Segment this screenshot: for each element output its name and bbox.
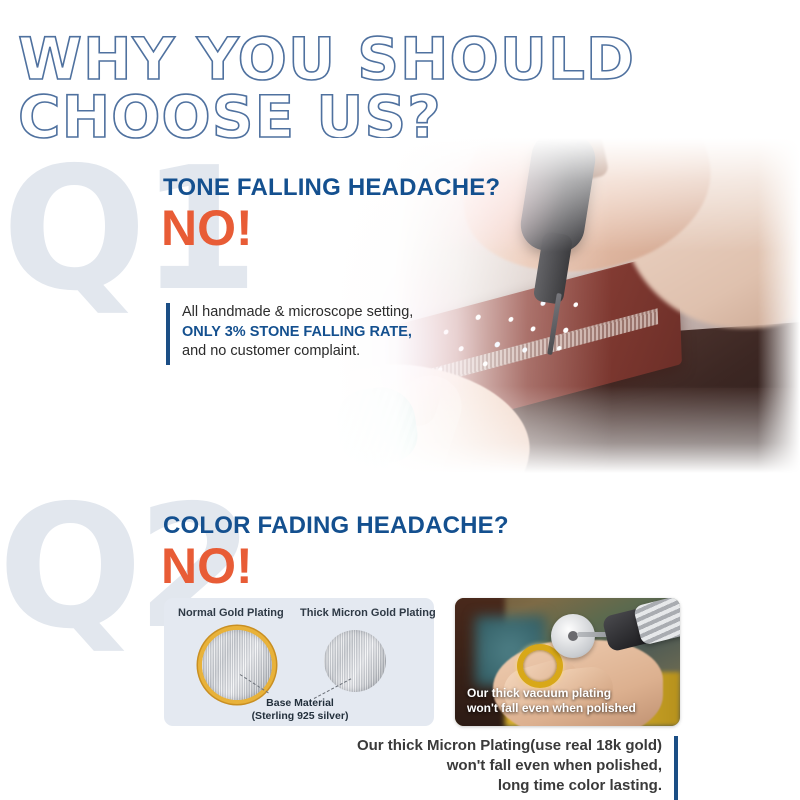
q2-answer: NO! [161,541,253,591]
q2-caption-line-1: Our thick vacuum plating [467,686,636,701]
page-title: WHY YOU SHOULD CHOOSE US? [18,33,778,143]
title-line-1: WHY YOU SHOULD [18,33,778,85]
q2-caption-line-2: won't fall even when polished [467,701,636,716]
q2-footer-quote-block: Our thick Micron Plating(use real 18k go… [330,736,678,800]
q1-quote-lines: All handmade & microscope setting, ONLY … [182,303,466,362]
q2-footer-line-1: Our thick Micron Plating(use real 18k go… [330,736,662,756]
base-material-line-1: Base Material [230,697,370,710]
q2-footer-line-2: won't fall even when polished, [330,756,662,776]
q2-photo: Our thick vacuum plating won't fall even… [455,598,680,726]
q1-machine-base-lower [580,388,800,473]
q1-quote-line-3: and no customer complaint. [182,342,466,362]
q2-footer-line-3: long time color lasting. [330,776,662,796]
thick-plating-coin-icon [324,630,386,692]
base-material-line-2: (Sterling 925 silver) [230,710,370,723]
q2-photo-caption: Our thick vacuum plating won't fall even… [467,686,636,716]
q1-quote-accent-bar [166,303,170,365]
q1-quote-line-2: ONLY 3% STONE FALLING RATE, [182,323,466,343]
thick-plating-label: Thick Micron Gold Plating [300,607,436,619]
plating-comparison-panel: Normal Gold Plating Thick Micron Gold Pl… [164,598,434,726]
q1-answer: NO! [161,203,253,253]
q1-heading: TONE FALLING HEADACHE? [163,174,500,202]
base-material-label: Base Material (Sterling 925 silver) [230,697,370,723]
normal-plating-label: Normal Gold Plating [178,607,284,619]
infographic-page: WHY YOU SHOULD CHOOSE US? Q1 [0,0,800,800]
q1-quote-line-1: All handmade & microscope setting, [182,303,466,323]
q1-quote-block: All handmade & microscope setting, ONLY … [166,303,466,365]
q2-footer-accent-bar [674,736,678,800]
q2-heading: COLOR FADING HEADACHE? [163,512,509,540]
q2-footer-quote-lines: Our thick Micron Plating(use real 18k go… [330,736,662,796]
